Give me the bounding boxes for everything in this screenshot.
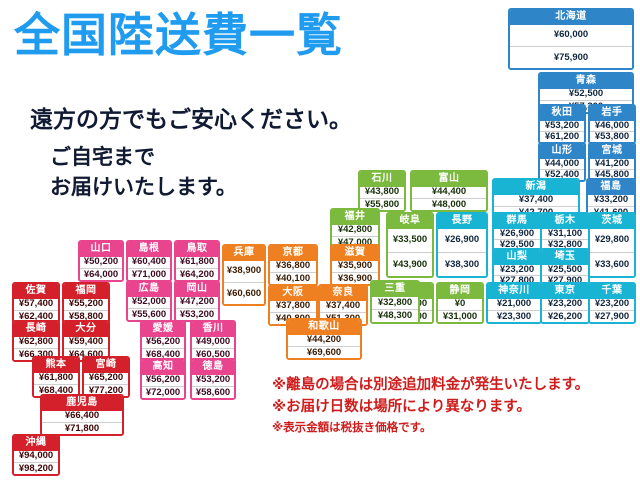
- pref-name-miyazaki: 宮崎: [84, 358, 128, 373]
- pref-values-kagawa: ¥49,000¥60,500: [192, 337, 234, 361]
- pref-box-akita: 秋田¥53,200¥61,200: [538, 104, 586, 144]
- pref-box-okinawa: 沖縄¥94,000¥98,200: [12, 434, 60, 476]
- pref-name-yamanashi: 山梨: [494, 250, 540, 265]
- pref-price-ishikawa-1: ¥43,800: [360, 187, 404, 198]
- pref-price-wakayama-1: ¥44,200: [288, 335, 360, 346]
- pref-price-akita-2: ¥61,200: [540, 131, 584, 142]
- notes-block: ※離島の場合は別途追加料金が発生いたします。 ※お届け日数は場所により異なります…: [272, 374, 638, 437]
- pref-price-okinawa-1: ¥94,000: [14, 451, 58, 462]
- pref-price-yamaguchi-1: ¥50,200: [80, 257, 122, 268]
- pref-name-saitama: 埼玉: [542, 250, 588, 265]
- note-line-1: ※離島の場合は別途追加料金が発生いたします。: [272, 374, 638, 396]
- pref-box-yamaguchi: 山口¥50,200¥64,000: [78, 240, 124, 282]
- pref-name-fukui: 福井: [332, 210, 378, 225]
- pref-name-kagawa: 香川: [192, 322, 234, 337]
- pref-box-gunma: 群馬¥26,900¥29,500: [492, 212, 542, 252]
- pref-values-tokushima: ¥53,200¥58,600: [192, 375, 234, 399]
- pref-values-yamaguchi: ¥50,200¥64,000: [80, 257, 122, 281]
- subtitle-line-2: ご自宅まで お届けいたします。: [50, 143, 237, 204]
- pref-values-saga: ¥57,400¥62,400: [14, 299, 58, 323]
- pref-box-toyama: 富山¥44,400¥48,000: [410, 170, 488, 212]
- pref-price-shizuoka-1: ¥0: [438, 299, 482, 310]
- pref-name-kagoshima: 鹿児島: [42, 396, 122, 411]
- pref-price-shiga-1: ¥35,900: [332, 261, 378, 272]
- pref-price-kagawa-1: ¥49,000: [192, 337, 234, 348]
- pref-values-okayama: ¥47,200¥53,200: [176, 297, 218, 321]
- pref-values-hokkaido: ¥60,000¥75,900: [510, 25, 632, 69]
- pref-price-ibaraki-2: ¥33,600: [590, 252, 634, 276]
- pref-box-kagawa: 香川¥49,000¥60,500: [190, 320, 236, 362]
- pref-box-kagoshima: 鹿児島¥66,400¥71,800: [40, 394, 124, 436]
- pref-name-gifu: 岐阜: [388, 214, 432, 229]
- pref-name-miyagi: 宮城: [590, 144, 634, 159]
- poster-canvas: 全国陸送費一覧 遠方の方でもご安心ください。 ご自宅まで お届けいたします。 北…: [0, 0, 640, 480]
- pref-price-chiba-2: ¥27,900: [590, 310, 634, 322]
- pref-name-gunma: 群馬: [494, 214, 540, 229]
- pref-price-kagoshima-1: ¥66,400: [42, 411, 122, 422]
- pref-price-okinawa-2: ¥98,200: [14, 462, 58, 474]
- pref-values-chiba: ¥23,200¥27,900: [590, 299, 634, 323]
- pref-values-tottori: ¥61,800¥64,200: [176, 257, 218, 281]
- pref-name-osaka: 大阪: [270, 286, 316, 301]
- pref-price-tottori-2: ¥64,200: [176, 268, 218, 280]
- pref-box-kanagawa: 神奈川¥21,000¥23,300: [486, 282, 542, 324]
- subtitle-line-1: 遠方の方でもご安心ください。: [30, 100, 352, 134]
- pref-name-kumamoto: 熊本: [34, 358, 78, 373]
- pref-price-ibaraki-1: ¥29,800: [590, 229, 634, 252]
- pref-name-nagasaki: 長崎: [14, 322, 58, 337]
- pref-values-gunma: ¥26,900¥29,500: [494, 229, 540, 251]
- pref-box-mie: 三重¥32,800¥48,300: [370, 280, 420, 324]
- pref-price-tochigi-1: ¥31,100: [542, 229, 588, 239]
- pref-price-osaka-1: ¥37,800: [270, 301, 316, 312]
- pref-box-hokkaido: 北海道¥60,000¥75,900: [508, 8, 634, 70]
- pref-price-kagoshima-2: ¥71,800: [42, 422, 122, 434]
- pref-price-shimane-1: ¥60,400: [128, 257, 170, 268]
- pref-name-hokkaido: 北海道: [510, 10, 632, 25]
- pref-name-wakayama: 和歌山: [288, 320, 360, 335]
- pref-price-tokyo-1: ¥23,200: [542, 299, 588, 310]
- pref-name-okayama: 岡山: [176, 282, 218, 297]
- pref-values-gifu: ¥33,500¥43,900: [388, 229, 432, 277]
- pref-box-shizuoka: 静岡¥0¥31,000: [436, 282, 484, 324]
- pref-name-tokushima: 徳島: [192, 360, 234, 375]
- pref-name-chiba: 千葉: [590, 284, 634, 299]
- pref-name-ishikawa: 石川: [360, 172, 404, 187]
- pref-name-tokyo: 東京: [542, 284, 588, 299]
- pref-box-kochi: 高知¥56,200¥72,000: [140, 358, 186, 400]
- pref-name-kanagawa: 神奈川: [488, 284, 540, 299]
- pref-price-shimane-2: ¥71,000: [128, 268, 170, 280]
- pref-name-okinawa: 沖縄: [14, 436, 58, 451]
- pref-price-iwate-2: ¥53,800: [590, 131, 634, 142]
- subtitle-line-2a: ご自宅まで: [50, 143, 237, 173]
- pref-values-shimane: ¥60,400¥71,000: [128, 257, 170, 281]
- pref-name-aomori: 青森: [540, 74, 632, 89]
- pref-price-tokushima-1: ¥53,200: [192, 375, 234, 386]
- pref-values-fukuoka: ¥55,200¥58,800: [64, 299, 108, 323]
- pref-name-tochigi: 栃木: [542, 214, 588, 229]
- pref-name-hiroshima: 広島: [128, 282, 170, 297]
- pref-values-ishikawa: ¥43,800¥55,800: [360, 187, 404, 211]
- pref-values-nagano: ¥26,900¥38,300: [438, 229, 486, 277]
- pref-price-saitama-1: ¥25,500: [542, 265, 588, 275]
- pref-box-tottori: 鳥取¥61,800¥64,200: [174, 240, 220, 282]
- pref-name-nara: 奈良: [320, 286, 366, 301]
- pref-price-gunma-1: ¥26,900: [494, 229, 540, 239]
- pref-values-yamagata: ¥44,000¥52,400: [540, 159, 584, 181]
- pref-price-miyazaki-1: ¥65,200: [84, 373, 128, 384]
- pref-name-shizuoka: 静岡: [438, 284, 482, 299]
- pref-values-akita: ¥53,200¥61,200: [540, 121, 584, 143]
- page-title: 全国陸送費一覧: [14, 12, 343, 58]
- pref-box-fukuoka: 福岡¥55,200¥58,800: [62, 282, 110, 324]
- pref-price-kanagawa-2: ¥23,300: [488, 310, 540, 322]
- pref-price-kyoto-2: ¥40,100: [270, 272, 316, 284]
- pref-price-kyoto-1: ¥36,800: [270, 261, 316, 272]
- note-line-3: ※表示金額は税抜き価格です。: [272, 419, 638, 437]
- pref-price-gifu-2: ¥43,900: [388, 252, 432, 276]
- pref-price-niigata-1: ¥37,400: [494, 195, 578, 206]
- pref-price-mie-2: ¥48,300: [372, 309, 418, 322]
- pref-name-nagano: 長野: [438, 214, 486, 229]
- pref-price-hyogo-2: ¥60,600: [224, 282, 264, 304]
- pref-price-tokushima-2: ¥58,600: [192, 386, 234, 398]
- pref-name-kochi: 高知: [142, 360, 184, 375]
- pref-box-shimane: 島根¥60,400¥71,000: [126, 240, 172, 282]
- pref-box-tochigi: 栃木¥31,100¥32,800: [540, 212, 590, 252]
- pref-name-fukushima: 福島: [588, 180, 634, 195]
- pref-values-okinawa: ¥94,000¥98,200: [14, 451, 58, 475]
- pref-box-wakayama: 和歌山¥44,200¥69,600: [286, 318, 362, 360]
- pref-price-aomori-1: ¥52,500: [540, 89, 632, 100]
- pref-price-akita-1: ¥53,200: [540, 121, 584, 131]
- pref-price-mie-1: ¥32,800: [372, 297, 418, 309]
- pref-price-okayama-2: ¥53,200: [176, 308, 218, 320]
- pref-values-miyazaki: ¥65,200¥77,200: [84, 373, 128, 397]
- pref-price-shizuoka-2: ¥31,000: [438, 310, 482, 322]
- pref-price-hyogo-1: ¥38,900: [224, 261, 264, 282]
- pref-box-ishikawa: 石川¥43,800¥55,800: [358, 170, 406, 212]
- pref-values-kyoto: ¥36,800¥40,100: [270, 261, 316, 285]
- pref-values-kumamoto: ¥61,800¥68,400: [34, 373, 78, 397]
- pref-name-shimane: 島根: [128, 242, 170, 257]
- pref-price-hiroshima-2: ¥55,600: [128, 308, 170, 320]
- pref-name-yamagata: 山形: [540, 144, 584, 159]
- pref-price-yamanashi-1: ¥23,200: [494, 265, 540, 275]
- pref-name-shiga: 滋賀: [332, 246, 378, 261]
- pref-values-miyagi: ¥41,200¥45,800: [590, 159, 634, 181]
- subtitle-line-2b: お届けいたします。: [50, 173, 237, 203]
- note-line-2: ※お届け日数は場所により異なります。: [272, 396, 638, 418]
- pref-box-saga: 佐賀¥57,400¥62,400: [12, 282, 60, 324]
- pref-box-kyoto: 京都¥36,800¥40,100: [268, 244, 318, 286]
- pref-values-shizuoka: ¥0¥31,000: [438, 299, 482, 323]
- pref-name-iwate: 岩手: [590, 106, 634, 121]
- pref-box-miyagi: 宮城¥41,200¥45,800: [588, 142, 636, 182]
- pref-name-ibaraki: 茨城: [590, 214, 634, 229]
- pref-price-tokyo-2: ¥26,200: [542, 310, 588, 322]
- pref-box-ehime: 愛媛¥56,200¥68,400: [140, 320, 186, 362]
- pref-price-miyagi-1: ¥41,200: [590, 159, 634, 169]
- pref-values-mie: ¥32,800¥48,300: [372, 297, 418, 323]
- pref-name-toyama: 富山: [412, 172, 486, 187]
- pref-values-wakayama: ¥44,200¥69,600: [288, 335, 360, 359]
- pref-box-nagano: 長野¥26,900¥38,300: [436, 212, 488, 278]
- pref-price-hiroshima-1: ¥52,000: [128, 297, 170, 308]
- pref-box-yamagata: 山形¥44,000¥52,400: [538, 142, 586, 182]
- pref-price-fukuoka-1: ¥55,200: [64, 299, 108, 310]
- pref-values-kochi: ¥56,200¥72,000: [142, 375, 184, 399]
- pref-values-iwate: ¥46,000¥53,800: [590, 121, 634, 143]
- pref-price-toyama-1: ¥44,400: [412, 187, 486, 198]
- pref-name-kyoto: 京都: [270, 246, 316, 261]
- pref-box-hiroshima: 広島¥52,000¥55,600: [126, 280, 172, 322]
- pref-price-fukushima-1: ¥33,200: [588, 195, 634, 206]
- pref-price-hokkaido-2: ¥75,900: [510, 46, 632, 68]
- pref-price-gifu-1: ¥33,500: [388, 229, 432, 252]
- pref-box-ibaraki: 茨城¥29,800¥33,600: [588, 212, 636, 278]
- pref-values-kagoshima: ¥66,400¥71,800: [42, 411, 122, 435]
- pref-box-iwate: 岩手¥46,000¥53,800: [588, 104, 636, 144]
- pref-price-kanagawa-1: ¥21,000: [488, 299, 540, 310]
- pref-price-kochi-2: ¥72,000: [142, 386, 184, 398]
- pref-values-ehime: ¥56,200¥68,400: [142, 337, 184, 361]
- pref-price-yamaguchi-2: ¥64,000: [80, 268, 122, 280]
- pref-price-ehime-1: ¥56,200: [142, 337, 184, 348]
- pref-price-nagasaki-1: ¥62,800: [14, 337, 58, 348]
- pref-name-saga: 佐賀: [14, 284, 58, 299]
- pref-box-chiba: 千葉¥23,200¥27,900: [588, 282, 636, 324]
- pref-values-toyama: ¥44,400¥48,000: [412, 187, 486, 211]
- pref-price-kochi-1: ¥56,200: [142, 375, 184, 386]
- pref-name-fukuoka: 福岡: [64, 284, 108, 299]
- pref-price-tottori-1: ¥61,800: [176, 257, 218, 268]
- pref-price-iwate-1: ¥46,000: [590, 121, 634, 131]
- pref-values-kanagawa: ¥21,000¥23,300: [488, 299, 540, 323]
- pref-price-fukui-1: ¥42,800: [332, 225, 378, 236]
- pref-values-tokyo: ¥23,200¥26,200: [542, 299, 588, 323]
- pref-box-okayama: 岡山¥47,200¥53,200: [174, 280, 220, 322]
- pref-name-niigata: 新潟: [494, 180, 578, 195]
- pref-price-yamagata-1: ¥44,000: [540, 159, 584, 169]
- pref-box-hyogo: 兵庫¥38,900¥60,600: [222, 244, 266, 306]
- pref-price-nagano-1: ¥26,900: [438, 229, 486, 252]
- pref-values-tochigi: ¥31,100¥32,800: [542, 229, 588, 251]
- pref-price-nagano-2: ¥38,300: [438, 252, 486, 276]
- pref-box-kumamoto: 熊本¥61,800¥68,400: [32, 356, 80, 398]
- pref-name-ehime: 愛媛: [142, 322, 184, 337]
- pref-price-saga-1: ¥57,400: [14, 299, 58, 310]
- pref-values-ibaraki: ¥29,800¥33,600: [590, 229, 634, 277]
- pref-price-hokkaido-1: ¥60,000: [510, 25, 632, 46]
- pref-name-hyogo: 兵庫: [224, 246, 264, 261]
- pref-name-mie: 三重: [372, 282, 418, 297]
- pref-box-tokushima: 徳島¥53,200¥58,600: [190, 358, 236, 400]
- pref-price-okayama-1: ¥47,200: [176, 297, 218, 308]
- pref-name-tottori: 鳥取: [176, 242, 218, 257]
- pref-price-chiba-1: ¥23,200: [590, 299, 634, 310]
- pref-box-tokyo: 東京¥23,200¥26,200: [540, 282, 590, 324]
- pref-price-toyama-2: ¥48,000: [412, 198, 486, 210]
- pref-price-wakayama-2: ¥69,600: [288, 346, 360, 358]
- pref-name-akita: 秋田: [540, 106, 584, 121]
- pref-price-nara-1: ¥37,400: [320, 301, 366, 312]
- pref-box-gifu: 岐阜¥33,500¥43,900: [386, 212, 434, 278]
- pref-price-kumamoto-1: ¥61,800: [34, 373, 78, 384]
- pref-box-miyazaki: 宮崎¥65,200¥77,200: [82, 356, 130, 398]
- pref-name-yamaguchi: 山口: [80, 242, 122, 257]
- pref-values-hyogo: ¥38,900¥60,600: [224, 261, 264, 305]
- pref-values-hiroshima: ¥52,000¥55,600: [128, 297, 170, 321]
- pref-name-oita: 大分: [64, 322, 108, 337]
- pref-price-oita-1: ¥59,400: [64, 337, 108, 348]
